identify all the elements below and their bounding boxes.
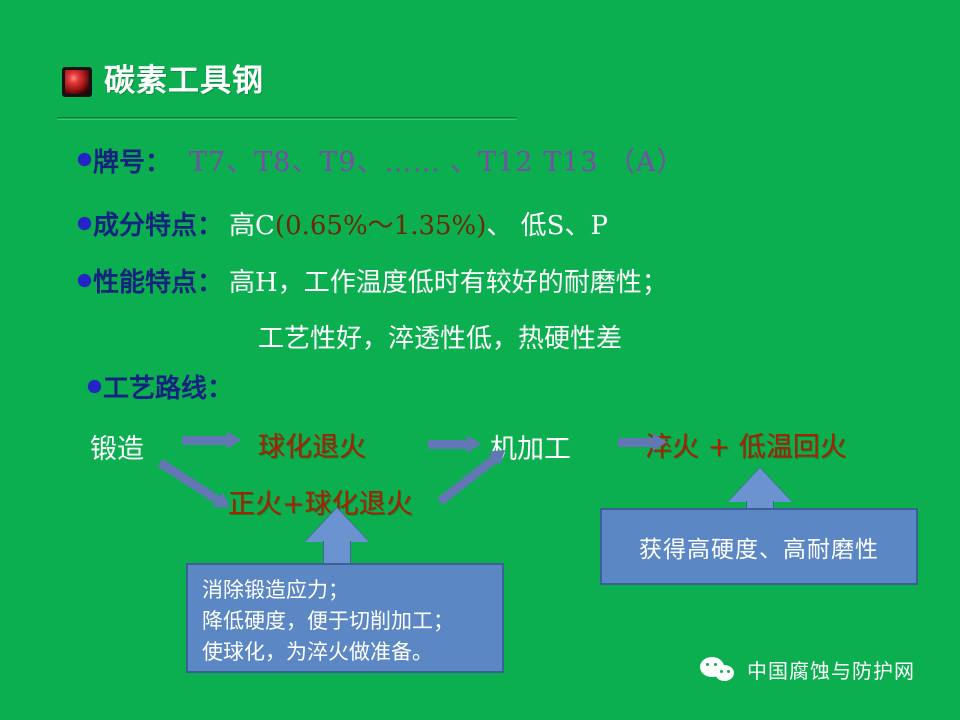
red-orb-icon [62,67,92,97]
block-arrow-head [728,468,792,502]
bullet-properties: 性能特点： 高H，工作温度低时有较好的耐磨性； [78,262,668,299]
callout-left-line-3: 使球化，为淬火做准备。 [202,637,490,668]
arrow-right-icon [428,440,468,449]
callout-left-line-2: 降低硬度，便于切削加工； [202,606,490,637]
title-divider [57,117,517,120]
bullet-dot-icon [88,380,101,393]
bullet-composition-label: 成分特点： [93,205,223,242]
callout-box-annealing-purpose: 消除锻造应力； 降低硬度，便于切削加工； 使球化，为淬火做准备。 [186,563,504,673]
wechat-eye [706,663,709,666]
wechat-icon [700,656,738,684]
flow-node-spheroidizing-annealing: 球化退火 [258,425,366,464]
block-arrow-head [305,508,369,542]
arrow-down-right-icon [158,459,222,505]
page-title: 碳素工具钢 [104,66,264,97]
bullet-properties-continued: 工艺性好，淬透性低，热硬性差 [258,318,622,355]
bullet-grade-value: T7、T8、T9、…… 、T12 T13 （A） [189,140,685,179]
watermark: 中国腐蚀与防护网 [700,655,915,684]
bullet-process-route: 工艺路线： [88,368,233,405]
arrow-right-icon [618,438,654,447]
arrow-right-icon [182,436,228,445]
flow-node-forging: 锻造 [90,427,144,466]
flow-node-quench-temper: 淬火 + 低温回火 [645,425,847,464]
bullet-dot-icon [78,153,91,166]
callout-right-line-1: 获得高硬度、高耐磨性 [639,530,879,564]
bullet-properties-line1: 高H，工作温度低时有较好的耐磨性； [229,262,668,299]
bullet-dot-icon [78,274,91,287]
wechat-eye [714,663,717,666]
callout-left-line-1: 消除锻造应力； [202,575,490,606]
wechat-eye [720,670,723,673]
arrow-up-right-icon [437,455,498,505]
slide-canvas: 碳素工具钢 牌号： T7、T8、T9、…… 、T12 T13 （A） 成分特点：… [0,0,960,720]
wechat-eye [727,670,730,673]
bullet-grade-label: 牌号： [93,142,171,179]
bullet-properties-label: 性能特点： [93,262,223,299]
bullet-process-route-label: 工艺路线： [103,368,233,405]
bullet-composition-value-suffix: 、 低S、P [486,205,608,242]
slide-title-row: 碳素工具钢 [62,66,264,97]
bullet-composition-value-prefix: 高C [229,205,275,242]
bullet-grade: 牌号： T7、T8、T9、…… 、T12 T13 （A） [78,140,685,179]
bullet-dot-icon [78,217,91,230]
wechat-bubble-front [715,665,734,681]
bullet-properties-line2: 工艺性好，淬透性低，热硬性差 [258,318,622,355]
bullet-composition-carbon-range: (0.65%～1.35%) [275,205,486,242]
bullet-composition: 成分特点： 高C (0.65%～1.35%) 、 低S、P [78,205,608,242]
callout-box-quench-purpose: 获得高硬度、高耐磨性 [600,508,918,585]
watermark-label: 中国腐蚀与防护网 [747,655,915,684]
